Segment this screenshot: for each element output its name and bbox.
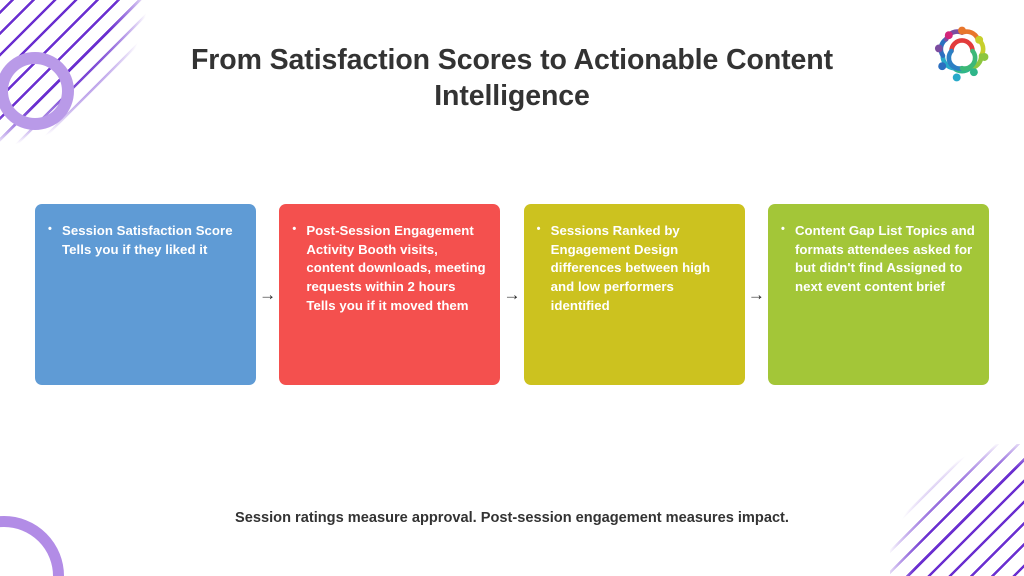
step-bullet-list: Content Gap List Topics and formats atte…: [778, 222, 977, 297]
people-ring-logo-icon: [929, 22, 995, 88]
arrow-right-icon-1: →: [256, 204, 279, 385]
step-bullet: Session Satisfaction Score Tells you if …: [62, 222, 244, 259]
circle-outline-decoration-top-left: [0, 52, 74, 130]
process-flow: Session Satisfaction Score Tells you if …: [35, 204, 989, 385]
step-bullet-list: Sessions Ranked by Engagement Design dif…: [534, 222, 733, 316]
step-bullet-list: Post-Session Engagement Activity Booth v…: [289, 222, 488, 316]
step-bullet: Sessions Ranked by Engagement Design dif…: [551, 222, 733, 316]
page-title: From Satisfaction Scores to Actionable C…: [112, 42, 912, 115]
process-step-2[interactable]: Post-Session Engagement Activity Booth v…: [279, 204, 500, 385]
process-step-3[interactable]: Sessions Ranked by Engagement Design dif…: [524, 204, 745, 385]
process-step-1[interactable]: Session Satisfaction Score Tells you if …: [35, 204, 256, 385]
step-bullet: Post-Session Engagement Activity Booth v…: [306, 222, 488, 316]
slide-canvas: From Satisfaction Scores to Actionable C…: [0, 0, 1024, 576]
process-step-4[interactable]: Content Gap List Topics and formats atte…: [768, 204, 989, 385]
footer-note: Session ratings measure approval. Post-s…: [0, 510, 1024, 526]
arrow-right-icon-2: →: [500, 204, 523, 385]
arrow-right-icon-3: →: [745, 204, 768, 385]
step-bullet: Content Gap List Topics and formats atte…: [795, 222, 977, 297]
step-bullet-list: Session Satisfaction Score Tells you if …: [45, 222, 244, 259]
